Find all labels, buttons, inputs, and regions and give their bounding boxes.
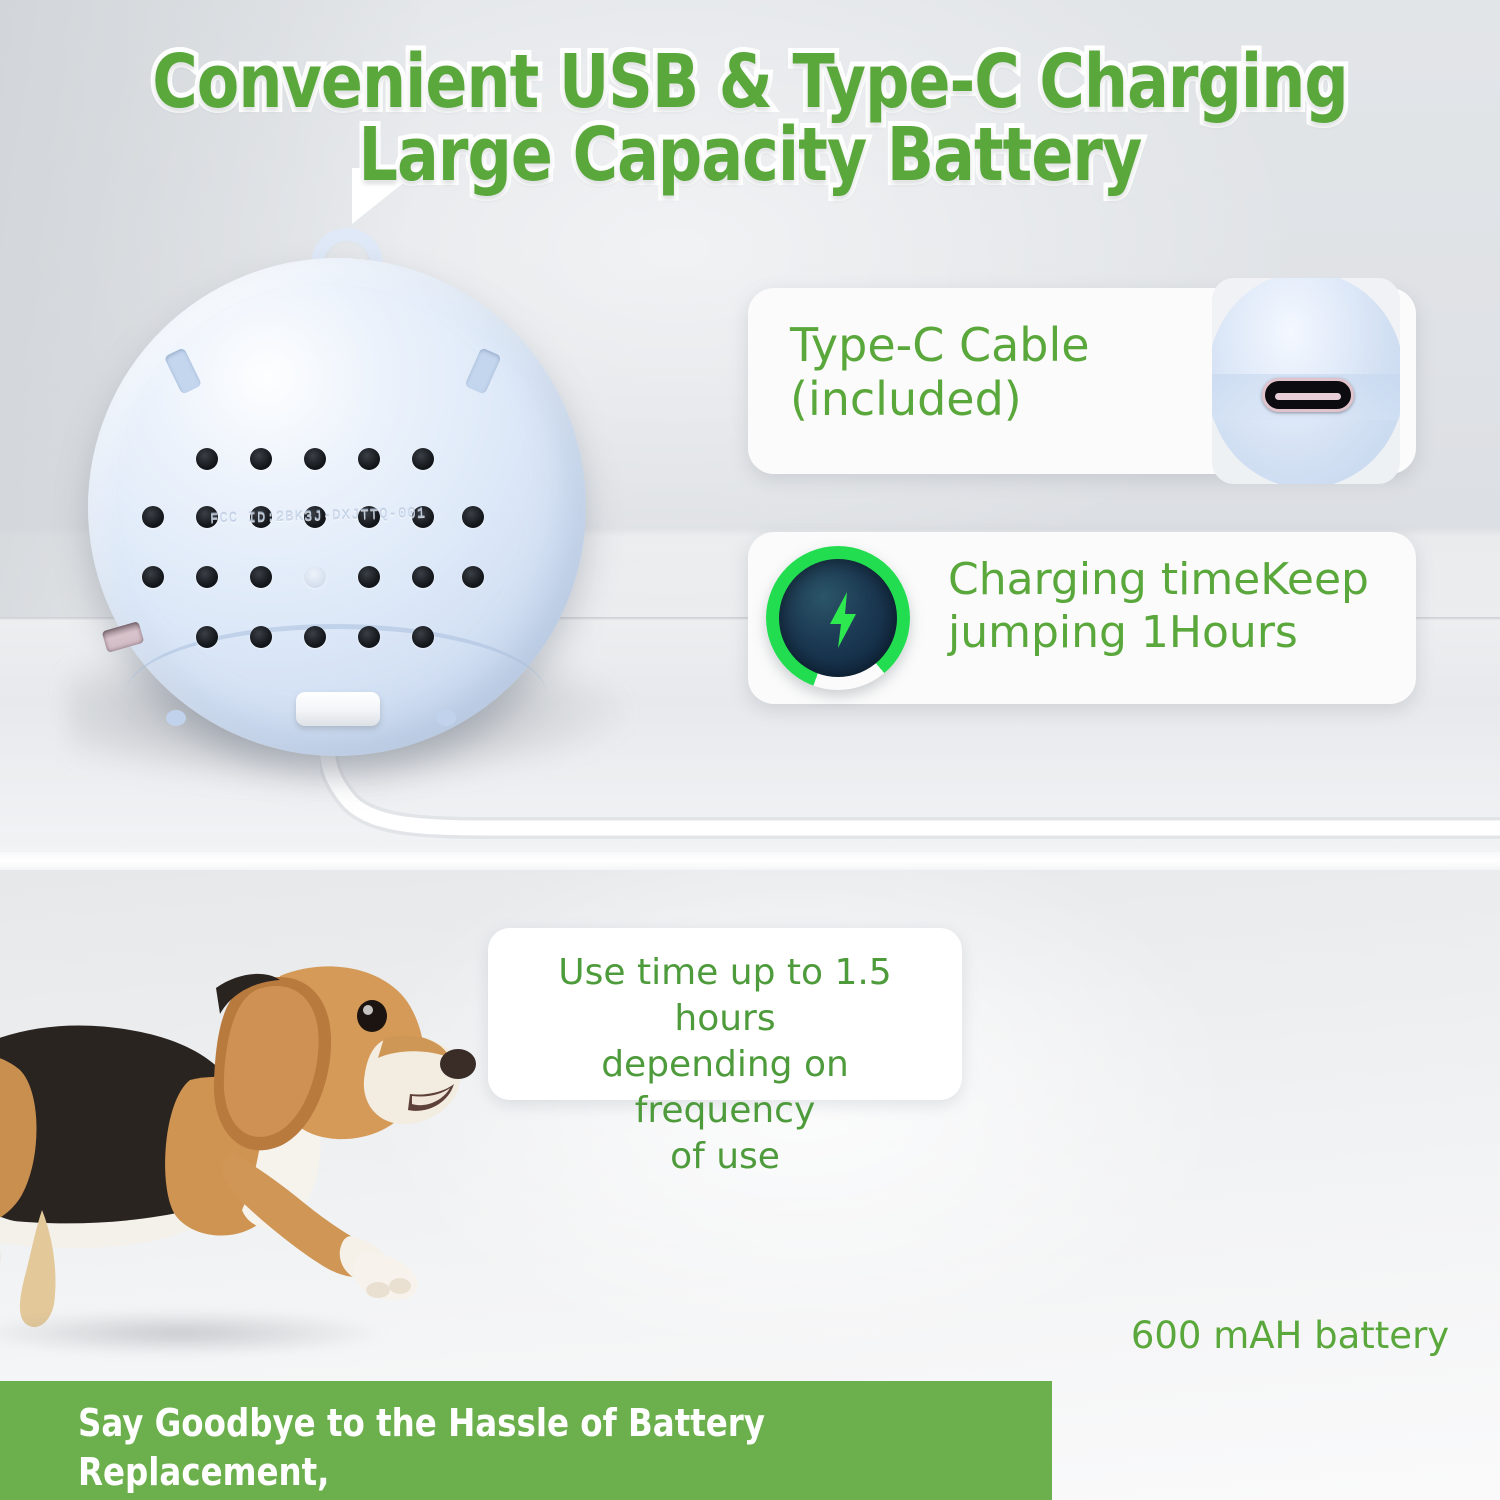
charging-line-2: jumping 1Hours xyxy=(948,607,1408,660)
usb-c-port-icon xyxy=(1262,378,1354,412)
banner-line-1: Say Goodbye to the Hassle of Battery Rep… xyxy=(78,1399,971,1498)
callout-card-charging-time[interactable]: Charging timeKeep jumping 1Hours xyxy=(748,532,1416,704)
speaker-hole xyxy=(196,566,218,588)
title-line-1: Convenient USB & Type-C Charging xyxy=(53,46,1448,119)
battery-caption: 600 mAH battery xyxy=(1110,1314,1470,1357)
speech-bubble-text: Use time up to 1.5 hours depending on fr… xyxy=(512,950,938,1180)
beagle-dog-photo xyxy=(0,880,500,1380)
charging-line-1: Charging timeKeep xyxy=(948,554,1408,607)
title-line-2: Large Capacity Battery xyxy=(53,119,1448,192)
speaker-hole xyxy=(412,566,434,588)
lightning-bolt-icon xyxy=(826,590,860,650)
type-c-card-text: Type-C Cable (included) xyxy=(790,318,1220,427)
banner-text: Say Goodbye to the Hassle of Battery Rep… xyxy=(78,1399,971,1500)
speaker-hole xyxy=(358,626,380,648)
bubble-line-2: depending on frequency xyxy=(512,1042,938,1134)
speaker-holes xyxy=(88,258,586,756)
speech-bubble-use-time[interactable]: Use time up to 1.5 hours depending on fr… xyxy=(488,928,962,1100)
charging-ring-icon xyxy=(766,546,910,690)
type-c-line-1: Type-C Cable xyxy=(790,318,1220,372)
dog-shadow xyxy=(0,1310,390,1356)
callout-card-type-c-cable[interactable]: Type-C Cable (included) xyxy=(748,288,1416,474)
speaker-hole xyxy=(196,626,218,648)
device-ball-photo: FCC ID:2BK3J-DXJTTQ-001 xyxy=(88,236,608,756)
usb-cable-plug xyxy=(296,692,380,726)
speaker-hole xyxy=(250,448,272,470)
bubble-line-3: of use xyxy=(512,1134,938,1180)
panel-divider xyxy=(0,852,1500,870)
dog-illustration xyxy=(0,880,500,1380)
page-title: Convenient USB & Type-C Charging Large C… xyxy=(53,46,1448,191)
speaker-hole xyxy=(250,626,272,648)
speaker-hole xyxy=(358,566,380,588)
speaker-hole xyxy=(142,566,164,588)
speaker-hole xyxy=(412,448,434,470)
speaker-hole xyxy=(304,566,326,588)
speaker-hole xyxy=(142,506,164,528)
infographic-page: FCC ID:2BK3J-DXJTTQ-001 Convenient USB &… xyxy=(0,0,1500,1500)
speaker-hole xyxy=(196,448,218,470)
charging-card-text: Charging timeKeep jumping 1Hours xyxy=(948,554,1408,660)
speaker-hole xyxy=(358,448,380,470)
speaker-hole xyxy=(412,626,434,648)
bottom-banner: Say Goodbye to the Hassle of Battery Rep… xyxy=(0,1381,1052,1500)
speaker-hole xyxy=(304,448,326,470)
type-c-line-2: (included) xyxy=(790,372,1220,426)
speaker-hole xyxy=(462,566,484,588)
port-tongue xyxy=(1275,393,1341,400)
bubble-line-1: Use time up to 1.5 hours xyxy=(512,950,938,1042)
speaker-hole xyxy=(250,566,272,588)
speaker-hole xyxy=(304,626,326,648)
usb-c-port-photo xyxy=(1212,278,1400,484)
top-panel: FCC ID:2BK3J-DXJTTQ-001 Convenient USB &… xyxy=(0,0,1500,852)
